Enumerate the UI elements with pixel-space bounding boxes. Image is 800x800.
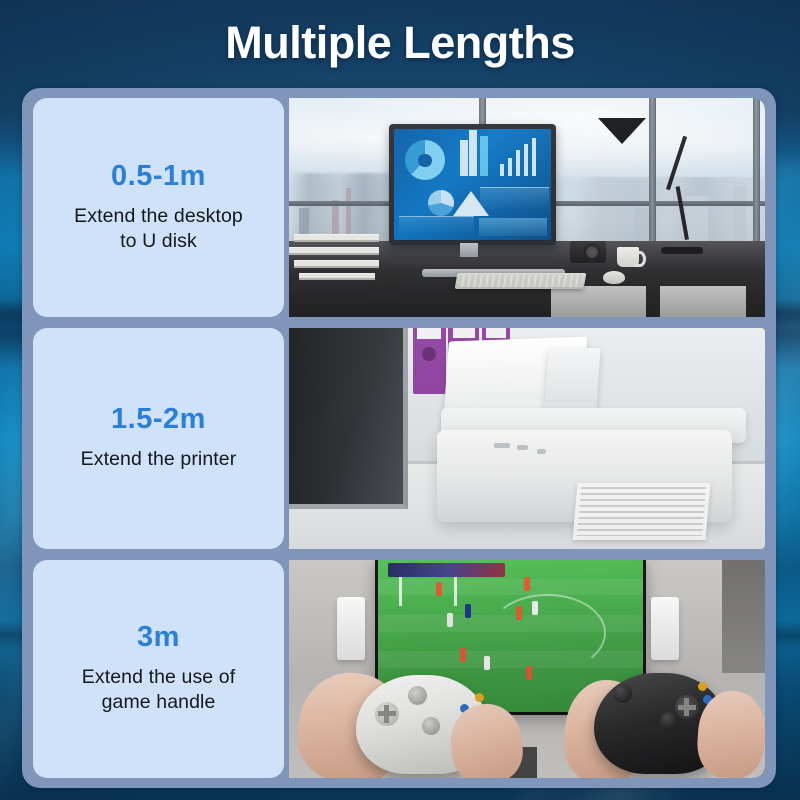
- player: [516, 606, 522, 620]
- mouse: [603, 271, 625, 284]
- wall-panel: [722, 560, 765, 674]
- header: Multiple Lengths: [0, 0, 800, 86]
- player: [447, 613, 453, 627]
- analog-stick: [422, 717, 440, 735]
- feature-description: Extend the desktop to U disk: [74, 204, 243, 255]
- binder-label: [453, 328, 475, 338]
- feature-description-line-1: Extend the desktop: [74, 204, 243, 229]
- pie-chart: [428, 190, 454, 216]
- bar-chart-bar: [469, 130, 477, 176]
- feature-text-card-1: 0.5-1m Extend the desktop to U disk: [33, 98, 284, 317]
- button-yellow: [475, 693, 484, 702]
- white-printer-photo: [289, 328, 765, 548]
- line-chart-area: [399, 216, 474, 236]
- center-arc: [489, 594, 606, 673]
- desk-drawer: [660, 284, 746, 317]
- feature-list-frame: 0.5-1m Extend the desktop to U disk: [22, 88, 776, 788]
- printed-paper: [572, 483, 710, 540]
- dpad-black: [675, 695, 699, 719]
- player: [524, 577, 530, 591]
- cable-length-label: 1.5-2m: [111, 404, 206, 436]
- bar-chart-bar: [516, 150, 520, 176]
- bar-chart-bar: [524, 144, 528, 176]
- feature-description: Extend the use of game handle: [82, 665, 235, 716]
- stacked-books: [294, 260, 380, 268]
- bar-chart-bar: [500, 164, 504, 176]
- control-buttons: [517, 445, 528, 450]
- player: [436, 582, 442, 596]
- page-title: Multiple Lengths: [225, 17, 574, 69]
- player: [465, 604, 471, 618]
- desk-monitor-dashboard-photo: [289, 98, 765, 317]
- keyboard: [454, 273, 585, 289]
- line-chart-area: [480, 187, 549, 211]
- monitor-screen: [394, 129, 551, 240]
- binder-label: [486, 328, 507, 338]
- desk-lamp-base: [661, 247, 703, 254]
- desk-lamp-shade: [598, 118, 646, 144]
- eyeglasses: [384, 287, 400, 300]
- feature-row: 3m Extend the use of game handle: [33, 560, 765, 778]
- bar-chart-bar: [508, 158, 512, 176]
- feature-description-line-1: Extend the use of: [82, 665, 235, 690]
- monitor-stand: [460, 243, 478, 257]
- control-buttons: [537, 449, 546, 454]
- feature-row: 1.5-2m Extend the printer: [33, 328, 765, 548]
- paper-text-lines: [576, 487, 706, 536]
- bar-chart-bar: [460, 140, 468, 176]
- game-controllers-tv-photo: [289, 560, 765, 778]
- monitor-left: [289, 328, 408, 509]
- speaker-right: [651, 597, 680, 660]
- bar-chart-bar: [480, 136, 488, 176]
- feature-description-line-1: Extend the printer: [81, 447, 237, 472]
- player: [532, 601, 538, 615]
- analog-stick: [613, 684, 632, 703]
- player: [460, 648, 466, 662]
- dpad-white: [375, 702, 399, 726]
- cable-length-label: 3m: [137, 622, 180, 654]
- feature-row: 0.5-1m Extend the desktop to U disk: [33, 98, 765, 317]
- feature-description-line-2: to U disk: [74, 229, 243, 254]
- computer-monitor: [389, 124, 556, 245]
- stacked-books: [289, 247, 379, 255]
- eyeglasses: [365, 287, 381, 300]
- bar-chart-bar: [532, 138, 536, 176]
- feature-description: Extend the printer: [81, 447, 237, 472]
- donut-chart: [405, 140, 445, 180]
- binder: [413, 328, 446, 394]
- speaker-left: [337, 597, 366, 660]
- stacked-books: [299, 273, 375, 280]
- building: [346, 188, 351, 238]
- cable-length-label: 0.5-1m: [111, 161, 206, 193]
- area-chart: [479, 218, 548, 236]
- score-hud: [388, 563, 505, 577]
- camera: [570, 241, 606, 263]
- coffee-mug: [617, 247, 639, 267]
- feature-description-line-2: game handle: [82, 690, 235, 715]
- player: [526, 666, 532, 680]
- control-buttons: [494, 443, 510, 448]
- binder-label: [417, 328, 441, 339]
- feature-text-card-3: 3m Extend the use of game handle: [33, 560, 284, 778]
- desk-drawer: [551, 284, 646, 317]
- feature-text-card-2: 1.5-2m Extend the printer: [33, 328, 284, 548]
- player: [484, 656, 490, 670]
- stacked-books: [294, 234, 380, 242]
